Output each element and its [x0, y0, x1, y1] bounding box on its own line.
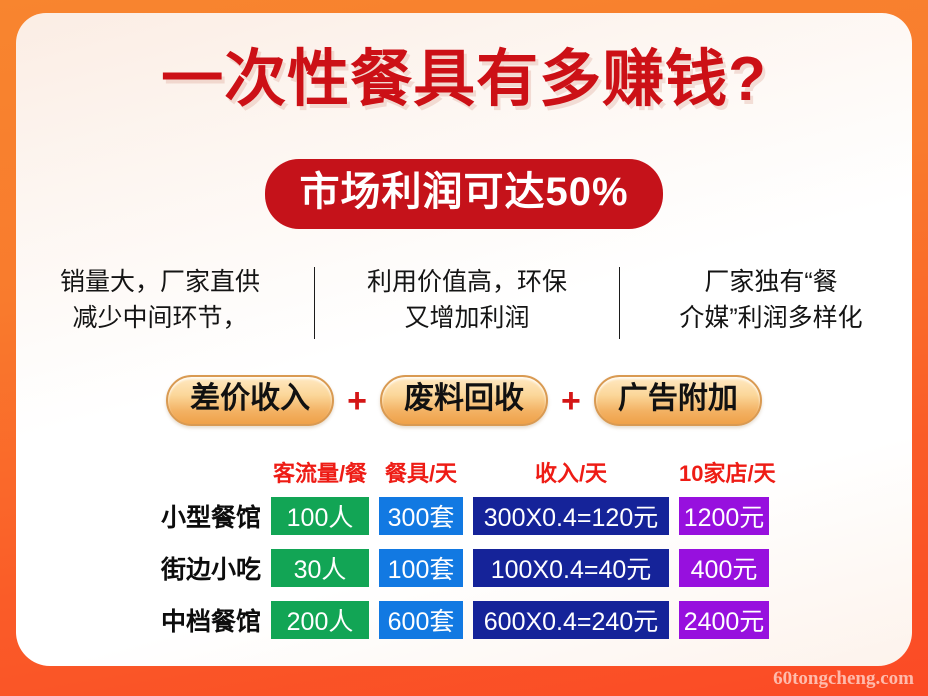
table-header-ten-stores: 10家店/天 [679, 456, 769, 488]
cell-traffic: 200人 [271, 601, 369, 639]
row-label-street-snack: 街边小吃 [149, 550, 271, 586]
cell-sets: 100套 [379, 549, 463, 587]
benefit-divider-1 [314, 267, 315, 339]
revenue-streams-row: 差价收入 + 废料回收 + 广告附加 [16, 375, 912, 426]
benefit-item-1: 销量大，厂家直供 减少中间环节， [16, 265, 308, 336]
row-label-small-restaurant: 小型餐馆 [149, 498, 271, 534]
watermark: 60tongcheng.com [773, 668, 914, 690]
cell-income: 100X0.4=40元 [473, 549, 669, 587]
table-row: 中档餐馆 200人 600套 600X0.4=240元 2400元 [149, 601, 769, 639]
benefits-row: 销量大，厂家直供 减少中间环节， 利用价值高，环保 又增加利润 厂家独有“餐 介… [58, 265, 870, 339]
pill-price-difference-income[interactable]: 差价收入 [166, 375, 334, 426]
poster-root: 一次性餐具有多赚钱? 市场利润可达50% 销量大，厂家直供 减少中间环节， 利用… [0, 0, 928, 696]
benefit-3-line-1: 厂家独有“餐 [636, 265, 906, 301]
plus-sign-icon-1: + [347, 384, 367, 418]
table-header-income: 收入/天 [473, 456, 669, 488]
poster-card: 一次性餐具有多赚钱? 市场利润可达50% 销量大，厂家直供 减少中间环节， 利用… [16, 13, 912, 666]
cell-ten-stores: 2400元 [679, 601, 769, 639]
cell-income: 300X0.4=120元 [473, 497, 669, 535]
cell-ten-stores: 400元 [679, 549, 769, 587]
benefit-1-line-2: 减少中间环节， [22, 301, 298, 337]
profit-badge: 市场利润可达50% [265, 159, 662, 229]
plus-sign-icon-2: + [561, 384, 581, 418]
cell-traffic: 100人 [271, 497, 369, 535]
pill-waste-recycling[interactable]: 废料回收 [380, 375, 548, 426]
profit-table: 客流量/餐 餐具/天 收入/天 10家店/天 小型餐馆 100人 300套 30… [149, 459, 769, 653]
page-title: 一次性餐具有多赚钱? [16, 49, 912, 111]
table-row: 街边小吃 30人 100套 100X0.4=40元 400元 [149, 549, 769, 587]
cell-sets: 300套 [379, 497, 463, 535]
table-row: 小型餐馆 100人 300套 300X0.4=120元 1200元 [149, 497, 769, 535]
benefit-2-line-1: 利用价值高，环保 [331, 265, 603, 301]
cell-income: 600X0.4=240元 [473, 601, 669, 639]
benefit-divider-2 [619, 267, 620, 339]
cell-ten-stores: 1200元 [679, 497, 769, 535]
benefit-item-3: 厂家独有“餐 介媒”利润多样化 [626, 265, 912, 336]
benefit-1-line-1: 销量大，厂家直供 [22, 265, 298, 301]
table-header-traffic: 客流量/餐 [271, 456, 369, 488]
table-header-row: 客流量/餐 餐具/天 收入/天 10家店/天 [149, 459, 769, 485]
benefit-3-line-2: 介媒”利润多样化 [636, 301, 906, 337]
cell-sets: 600套 [379, 601, 463, 639]
benefit-item-2: 利用价值高，环保 又增加利润 [321, 265, 613, 336]
row-label-midrange-restaurant: 中档餐馆 [149, 602, 271, 638]
headline-badge-container: 市场利润可达50% [16, 159, 912, 229]
benefit-2-line-2: 又增加利润 [331, 301, 603, 337]
pill-advertising-addon[interactable]: 广告附加 [594, 375, 762, 426]
cell-traffic: 30人 [271, 549, 369, 587]
table-header-sets: 餐具/天 [379, 456, 463, 488]
